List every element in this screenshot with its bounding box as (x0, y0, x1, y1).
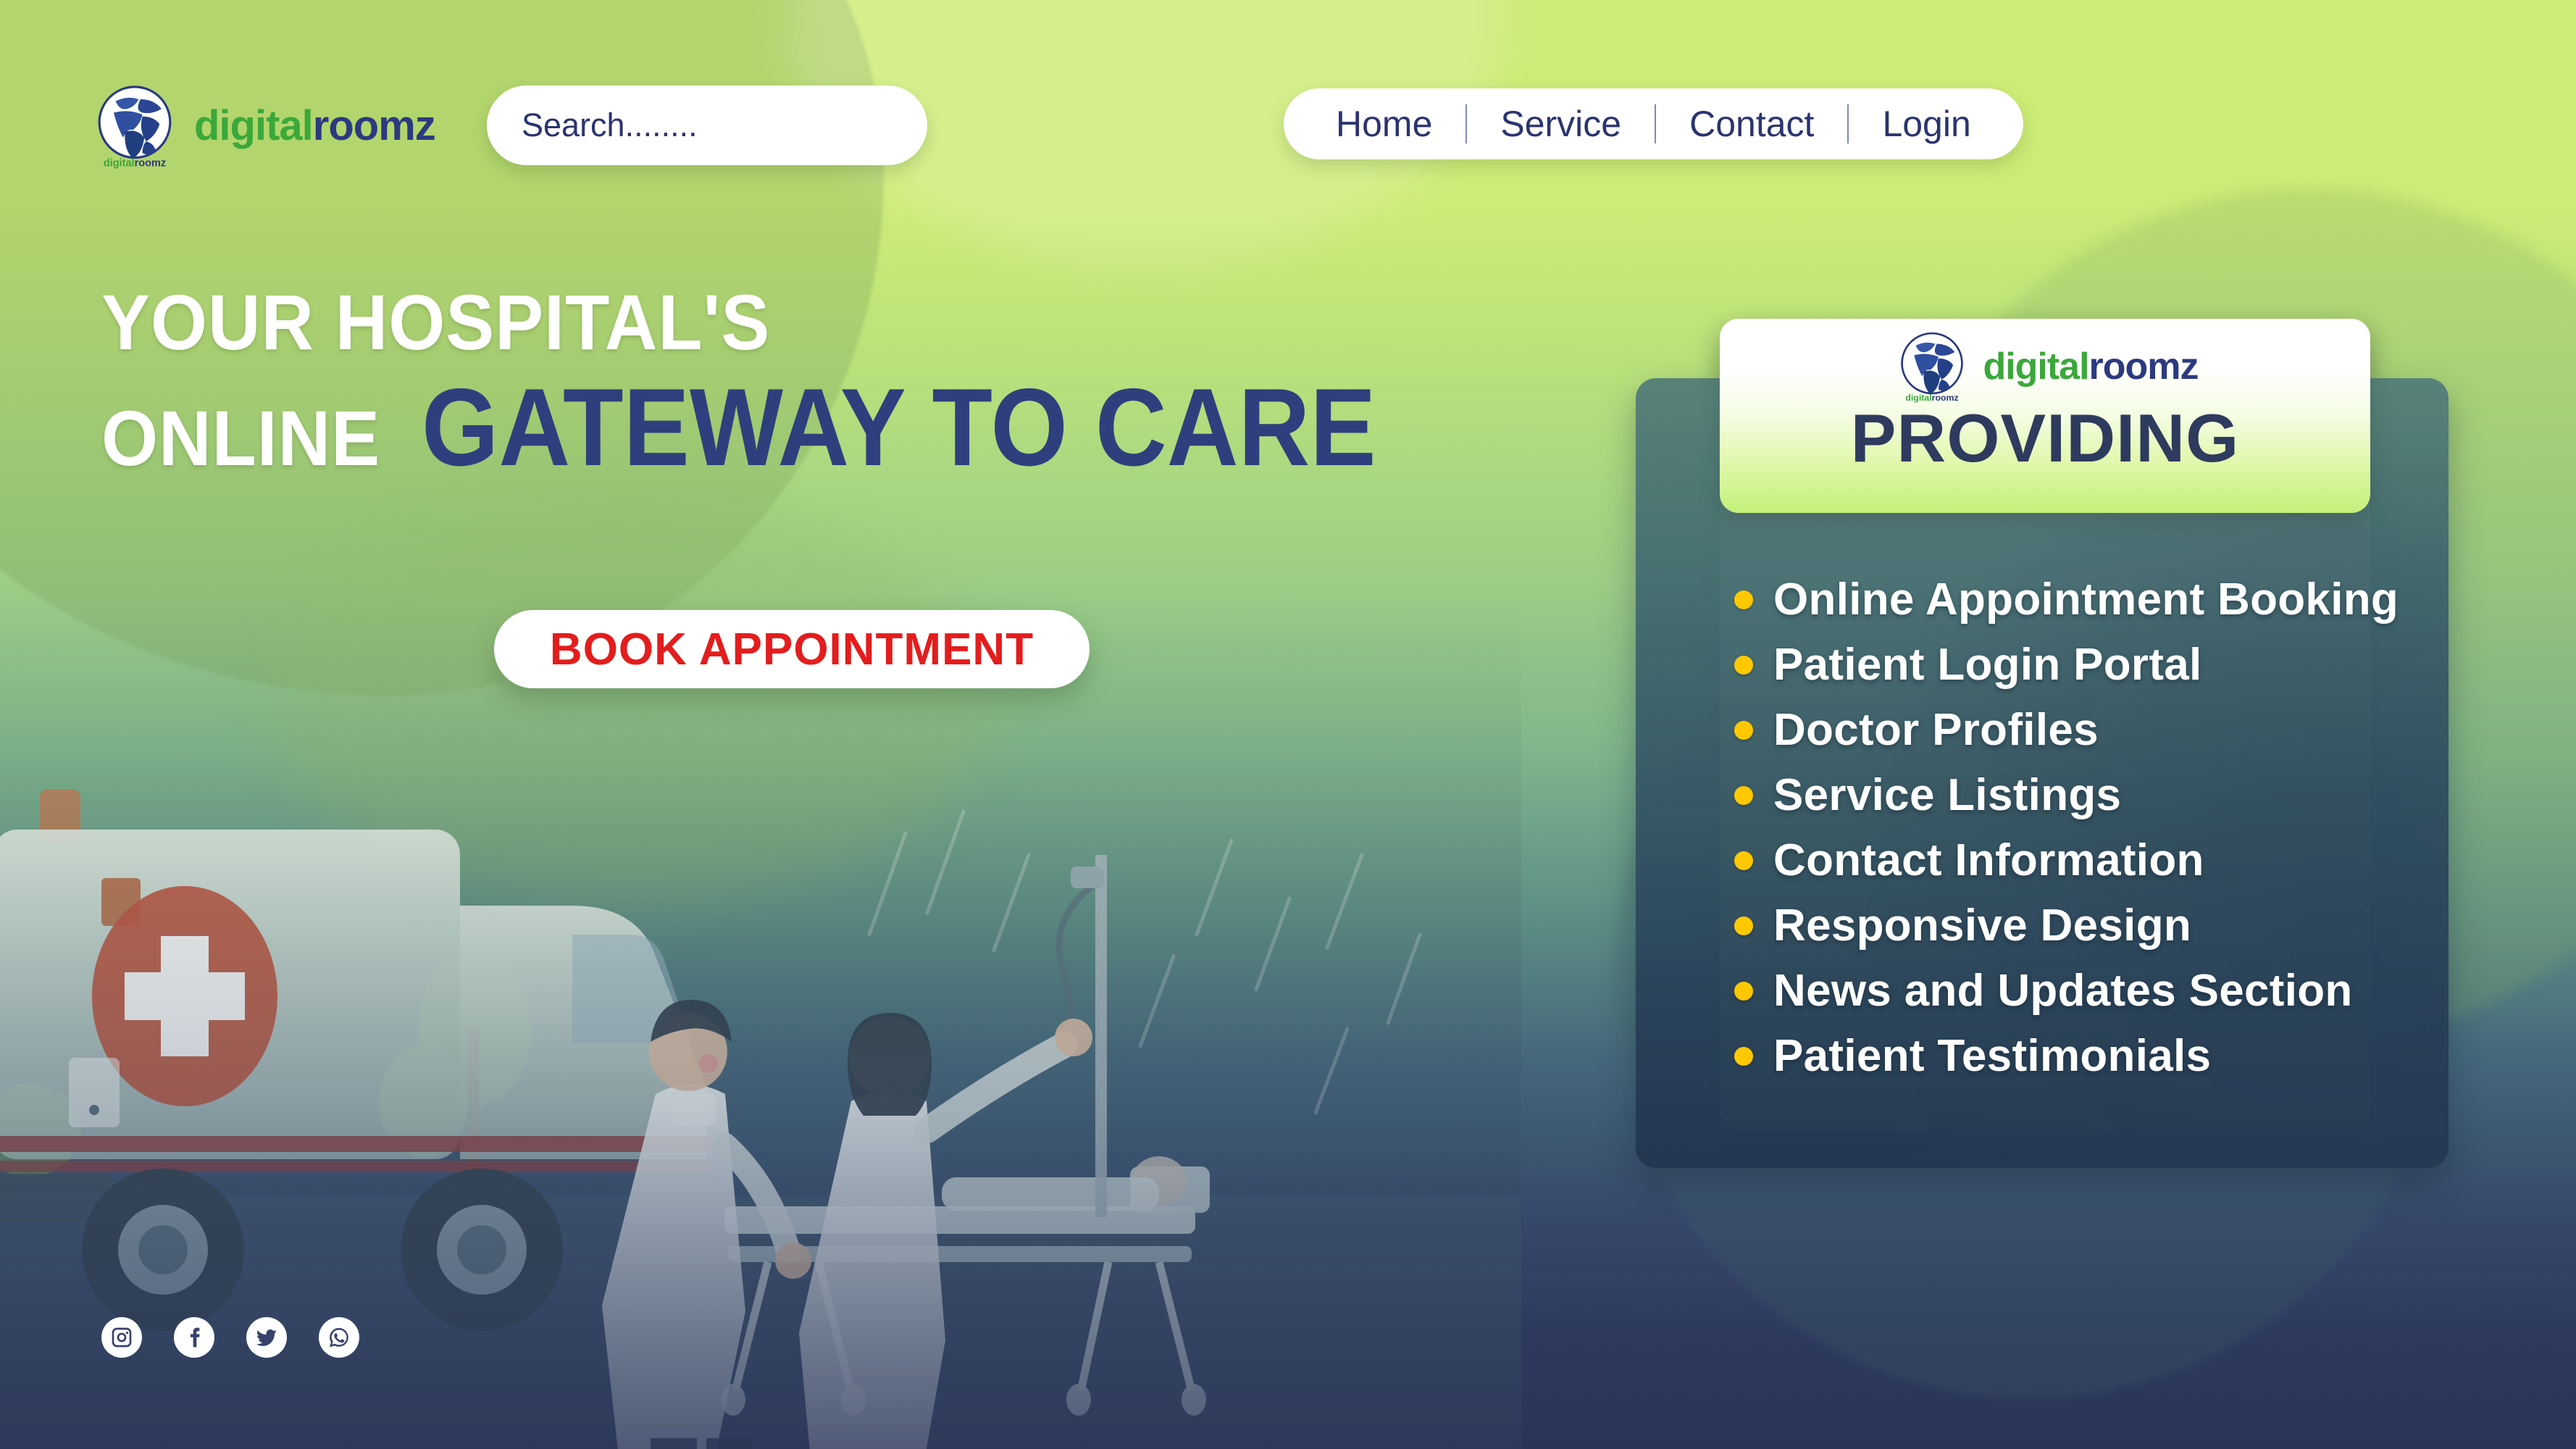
book-appointment-button[interactable]: BOOK APPOINTMENT (494, 610, 1090, 688)
feature-item-online-appointment-booking: Online Appointment Booking (1734, 572, 2430, 627)
whatsapp-icon (327, 1326, 351, 1349)
feature-item-responsive-design: Responsive Design (1734, 898, 2430, 953)
feature-label: Patient Testimonials (1773, 1034, 2211, 1079)
panel-brand-wordmark: digitalroomz (1983, 348, 2198, 385)
hero-banner: digitalroomz digitalroomz Home Service C… (0, 0, 2576, 1449)
brand-name-part2: roomz (313, 102, 435, 149)
feature-item-service-listings: Service Listings (1734, 768, 2430, 823)
search-bar[interactable] (487, 85, 927, 165)
bullet-icon (1734, 851, 1753, 870)
headline-line-1: YOUR HOSPITAL'S (101, 283, 1386, 362)
bullet-icon (1734, 982, 1753, 1001)
brand-name-part1: digital (194, 102, 313, 149)
providing-title: PROVIDING (1851, 404, 2240, 472)
nav-divider (1847, 104, 1849, 143)
feature-item-news-and-updates-section: News and Updates Section (1734, 964, 2430, 1019)
bullet-icon (1734, 656, 1753, 675)
instagram-icon (110, 1326, 133, 1349)
brand-wordmark: digitalroomz (194, 105, 435, 147)
providing-panel: digitalroomz digitalroomz PROVIDING Onli… (1636, 333, 2456, 1145)
feature-item-contact-information: Contact Information (1734, 833, 2430, 888)
headline-line-2: ONLINE GATEWAY TO CARE (101, 372, 1482, 483)
feature-label: Patient Login Portal (1773, 643, 2202, 688)
feature-label: Responsive Design (1773, 903, 2191, 948)
site-header: digitalroomz digitalroomz Home Service C… (0, 0, 2576, 174)
social-links (101, 1317, 359, 1358)
bullet-icon (1734, 916, 1753, 935)
facebook-link[interactable] (174, 1317, 214, 1358)
headline-gateway-to-care: GATEWAY TO CARE (422, 372, 1376, 483)
bullet-icon (1734, 786, 1753, 805)
nav-item-contact[interactable]: Contact (1656, 106, 1847, 142)
search-input[interactable] (487, 107, 927, 144)
panel-brand-part1: digital (1983, 346, 2088, 388)
brand-logo[interactable]: digitalroomz digitalroomz (87, 78, 435, 174)
facebook-icon (183, 1326, 206, 1349)
feature-list: Online Appointment Booking Patient Login… (1734, 572, 2430, 1094)
providing-card-header: digitalroomz digitalroomz PROVIDING (1720, 319, 2370, 513)
panel-brand-part2: roomz (2089, 346, 2199, 388)
feature-label: Doctor Profiles (1773, 708, 2099, 753)
whatsapp-link[interactable] (319, 1317, 359, 1358)
hero-copy: YOUR HOSPITAL'S ONLINE GATEWAY TO CARE (101, 283, 1482, 483)
nav-item-home[interactable]: Home (1302, 106, 1465, 142)
instagram-link[interactable] (101, 1317, 142, 1358)
nav-divider (1465, 104, 1467, 143)
bullet-icon (1734, 1047, 1753, 1066)
twitter-link[interactable] (246, 1317, 287, 1358)
feature-label: Online Appointment Booking (1773, 577, 2399, 622)
globe-icon: digitalroomz (1891, 326, 1973, 407)
feature-item-patient-login-portal: Patient Login Portal (1734, 638, 2430, 693)
nav-item-service[interactable]: Service (1467, 106, 1655, 142)
feature-label: Contact Information (1773, 838, 2204, 883)
main-navigation: Home Service Contact Login (1284, 88, 2023, 159)
feature-item-doctor-profiles: Doctor Profiles (1734, 703, 2430, 758)
feature-label: News and Updates Section (1773, 969, 2353, 1014)
panel-brand-logo: digitalroomz digitalroomz (1891, 326, 2198, 407)
bullet-icon (1734, 721, 1753, 740)
twitter-icon (255, 1326, 278, 1349)
nav-item-login[interactable]: Login (1849, 106, 2004, 142)
nav-divider (1655, 104, 1656, 143)
feature-item-patient-testimonials: Patient Testimonials (1734, 1029, 2430, 1084)
globe-icon: digitalroomz (87, 78, 183, 174)
headline-online: ONLINE (101, 399, 380, 477)
svg-text:digitalroomz: digitalroomz (104, 157, 166, 169)
feature-label: Service Listings (1773, 773, 2121, 818)
bullet-icon (1734, 590, 1753, 609)
